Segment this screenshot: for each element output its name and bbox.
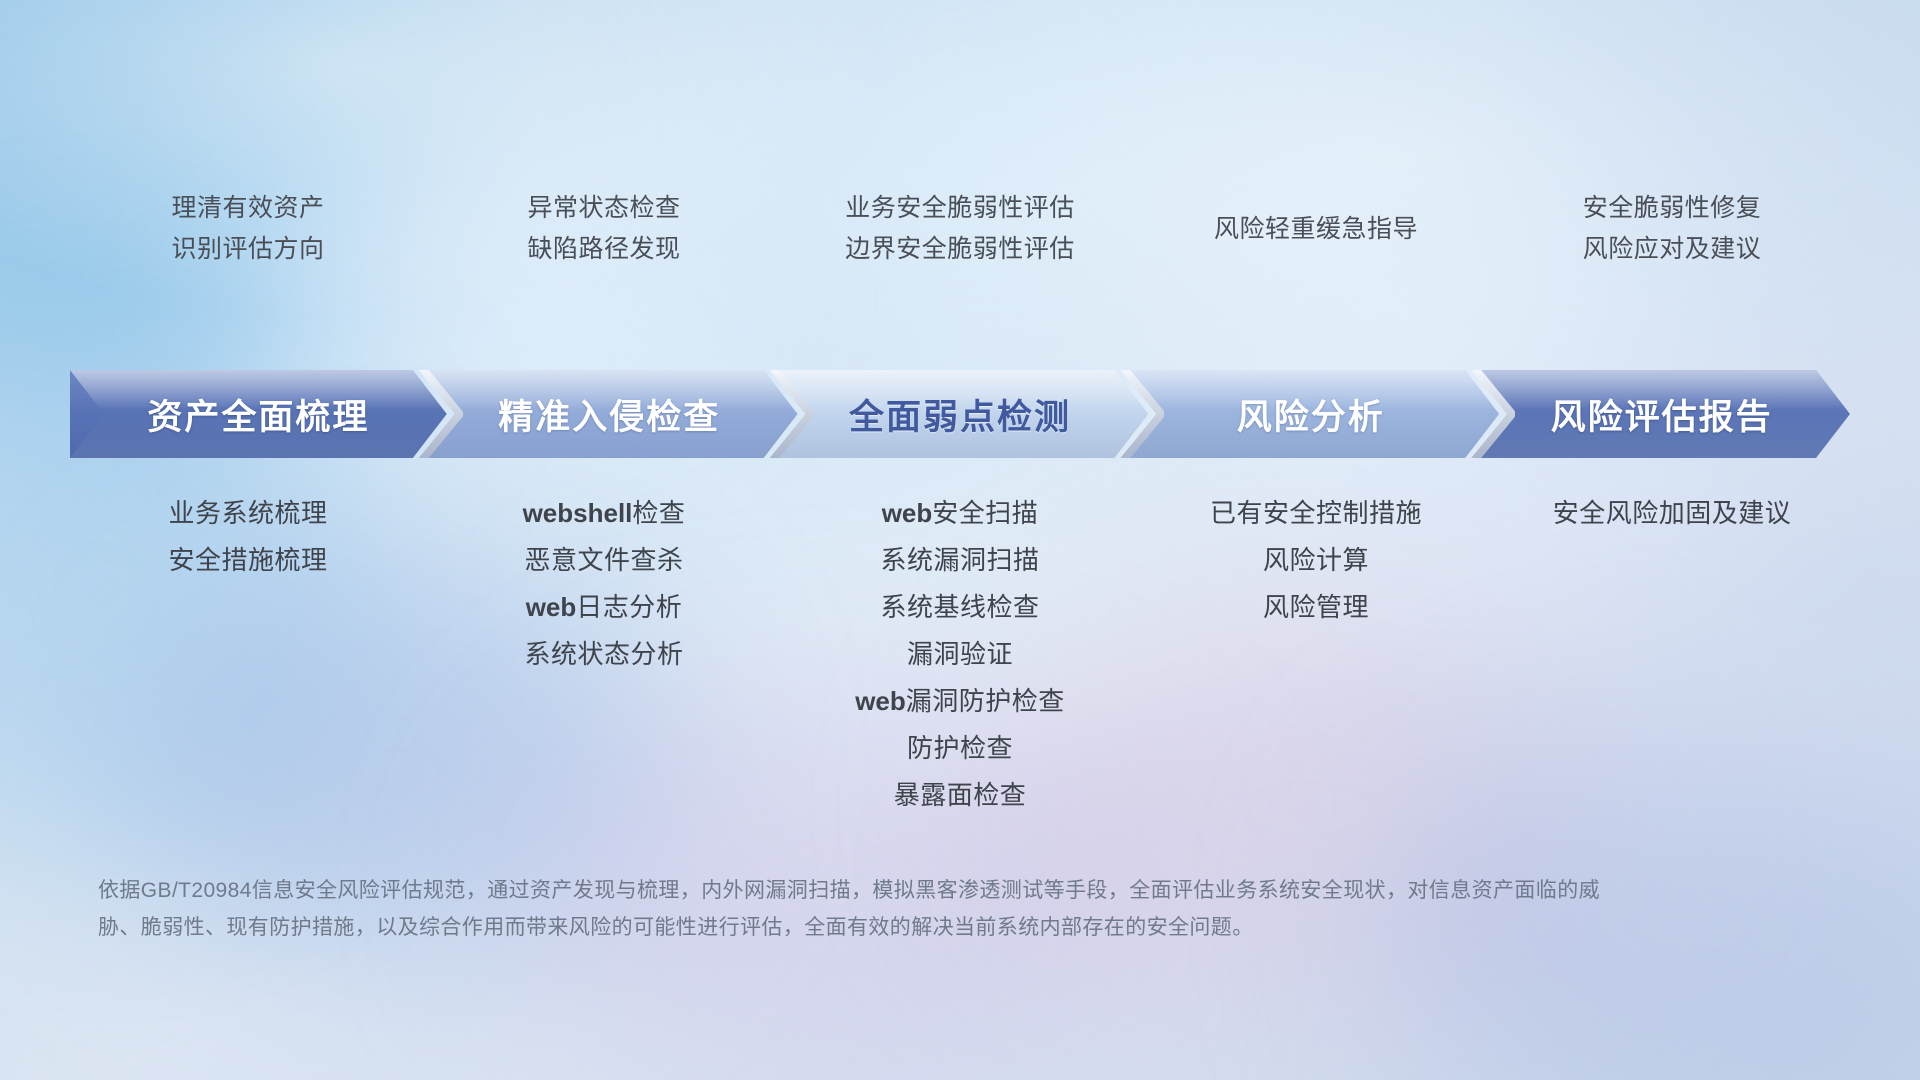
top-item: 识别评估方向	[171, 229, 324, 270]
top-item: 风险应对及建议	[1583, 229, 1762, 270]
top-column-4: 风险轻重缓急指导	[1138, 188, 1494, 270]
stage-chevron-banner: 资产全面梳理 精准入侵检查 全面弱点检测 风险分析 风险评估报告	[70, 370, 1850, 458]
top-item: 缺陷路径发现	[527, 229, 680, 270]
bottom-item: 系统基线检查	[880, 584, 1039, 631]
bottom-item: 风险计算	[1263, 537, 1369, 584]
bottom-column-2: webshell检查 恶意文件查杀 web日志分析 系统状态分析	[426, 490, 782, 819]
bottom-column-5: 安全风险加固及建议	[1494, 490, 1850, 819]
top-descriptor-row: 理清有效资产 识别评估方向 异常状态检查 缺陷路径发现 业务安全脆弱性评估 边界…	[70, 188, 1850, 270]
footer-description: 依据GB/T20984信息安全风险评估规范，通过资产发现与梳理，内外网漏洞扫描，…	[98, 872, 1618, 946]
stage-label: 全面弱点检测	[849, 389, 1071, 440]
bottom-column-1: 业务系统梳理 安全措施梳理	[70, 490, 426, 819]
top-item: 边界安全脆弱性评估	[845, 229, 1075, 270]
top-item: 理清有效资产	[171, 188, 324, 229]
stage-label: 风险分析	[1237, 389, 1385, 440]
top-item: 安全脆弱性修复	[1583, 188, 1762, 229]
top-item: 业务安全脆弱性评估	[845, 188, 1075, 229]
bottom-item: 暴露面检查	[894, 772, 1027, 819]
bottom-item: 防护检查	[907, 725, 1013, 772]
top-item: 异常状态检查	[527, 188, 680, 229]
bottom-item: web安全扫描	[882, 490, 1039, 537]
top-column-1: 理清有效资产 识别评估方向	[70, 188, 426, 270]
bottom-descriptor-row: 业务系统梳理 安全措施梳理 webshell检查 恶意文件查杀 web日志分析 …	[70, 490, 1850, 819]
stage-chevron-2[interactable]: 精准入侵检查	[421, 370, 798, 458]
bottom-column-3: web安全扫描 系统漏洞扫描 系统基线检查 漏洞验证 web漏洞防护检查 防护检…	[782, 490, 1138, 819]
stage-chevron-4[interactable]: 风险分析	[1122, 370, 1499, 458]
top-item: 风险轻重缓急指导	[1214, 209, 1418, 250]
bottom-item: 安全风险加固及建议	[1553, 490, 1792, 537]
bottom-item: 风险管理	[1263, 584, 1369, 631]
bottom-item: web日志分析	[526, 584, 683, 631]
bottom-item: 系统漏洞扫描	[880, 537, 1039, 584]
bottom-item: 业务系统梳理	[168, 490, 327, 537]
stage-chevron-5[interactable]: 风险评估报告	[1473, 370, 1850, 458]
stage-label: 精准入侵检查	[498, 389, 720, 440]
top-column-3: 业务安全脆弱性评估 边界安全脆弱性评估	[782, 188, 1138, 270]
bottom-item: web漏洞防护检查	[855, 678, 1065, 725]
stage-chevron-1[interactable]: 资产全面梳理	[70, 370, 447, 458]
bottom-item: 系统状态分析	[524, 631, 683, 678]
stage-chevron-3[interactable]: 全面弱点检测	[772, 370, 1149, 458]
bottom-item: 已有安全控制措施	[1210, 490, 1422, 537]
stage-label: 风险评估报告	[1551, 389, 1773, 440]
stage-label: 资产全面梳理	[147, 389, 369, 440]
top-column-5: 安全脆弱性修复 风险应对及建议	[1494, 188, 1850, 270]
bottom-item: 漏洞验证	[907, 631, 1013, 678]
bottom-item: 安全措施梳理	[168, 537, 327, 584]
bottom-item: 恶意文件查杀	[524, 537, 683, 584]
process-diagram: 理清有效资产 识别评估方向 异常状态检查 缺陷路径发现 业务安全脆弱性评估 边界…	[0, 0, 1920, 1080]
bottom-column-4: 已有安全控制措施 风险计算 风险管理	[1138, 490, 1494, 819]
top-column-2: 异常状态检查 缺陷路径发现	[426, 188, 782, 270]
bottom-item: webshell检查	[523, 490, 686, 537]
